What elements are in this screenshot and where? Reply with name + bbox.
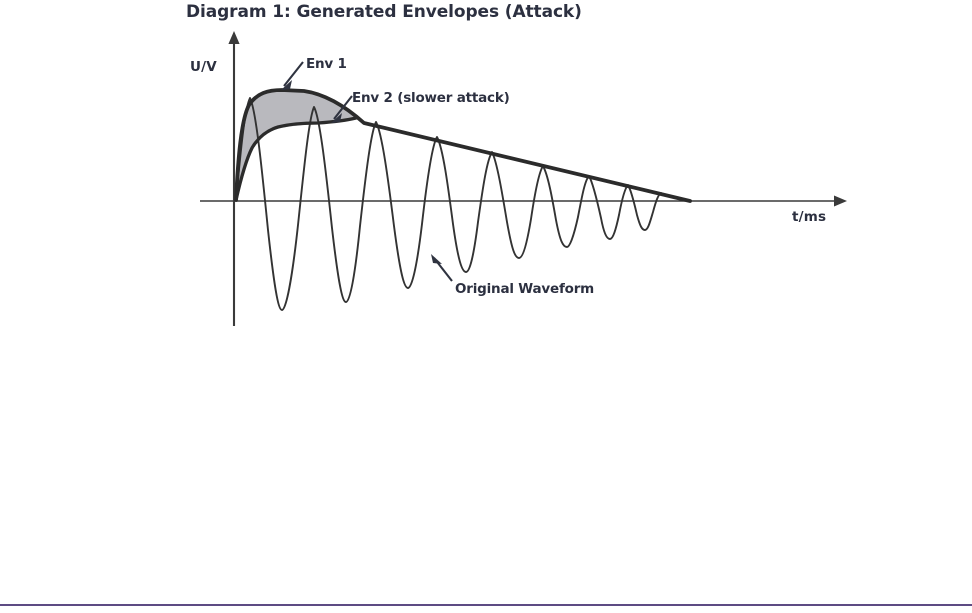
env1-leader-line	[284, 62, 303, 86]
annotation-env1: Env 1	[281, 56, 347, 90]
y-axis-label: U/V	[190, 59, 217, 75]
envelope-diagram: Env 1 Env 2 (slower attack) Original Wav…	[0, 0, 972, 600]
document-page: Diagram 1: Generated Envelopes (Attack) …	[0, 0, 972, 613]
page-footer-rule	[0, 604, 972, 606]
x-axis-arrowhead	[834, 196, 847, 207]
env1-label: Env 1	[306, 56, 347, 72]
annotation-original-waveform: Original Waveform	[431, 254, 594, 297]
x-axis-label: t/ms	[792, 209, 826, 225]
y-axis-arrowhead	[228, 31, 239, 44]
waveform-arrowhead	[431, 254, 442, 264]
original-waveform-label: Original Waveform	[455, 281, 594, 297]
env2-label: Env 2 (slower attack)	[352, 90, 510, 106]
